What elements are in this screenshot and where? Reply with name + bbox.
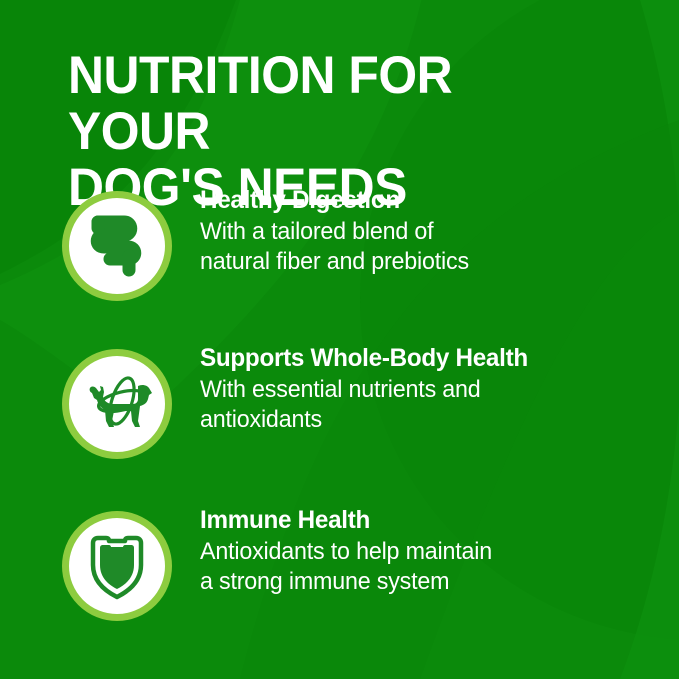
benefit-description: With a tailored blend of natural fiber a… [200, 217, 656, 278]
shield-icon [85, 529, 149, 603]
benefit-text-immune-health: Immune Health Antioxidants to help maint… [200, 506, 670, 598]
benefit-description: With essential nutrients and antioxidant… [200, 375, 656, 436]
benefit-text-whole-body-health: Supports Whole-Body Health With essentia… [200, 344, 670, 436]
benefit-item-immune-health: Immune Health Antioxidants to help maint… [0, 506, 679, 636]
shield-icon-badge [62, 511, 172, 621]
benefit-title: Healthy Digestion [200, 186, 656, 216]
benefit-title: Supports Whole-Body Health [200, 344, 656, 374]
benefit-item-healthy-digestion: Healthy Digestion With a tailored blend … [0, 186, 679, 316]
benefit-text-healthy-digestion: Healthy Digestion With a tailored blend … [200, 186, 670, 278]
benefit-title: Immune Health [200, 506, 656, 536]
benefit-description: Antioxidants to help maintain a strong i… [200, 537, 656, 598]
dog-with-orbit-icon [78, 373, 156, 435]
dog-with-orbit-icon-badge [62, 349, 172, 459]
intestine-icon [84, 210, 150, 282]
benefit-item-whole-body-health: Supports Whole-Body Health With essentia… [0, 344, 679, 474]
promo-panel: NUTRITION FOR YOUR DOG'S NEEDS Healthy D… [0, 0, 679, 679]
intestine-icon-badge [62, 191, 172, 301]
